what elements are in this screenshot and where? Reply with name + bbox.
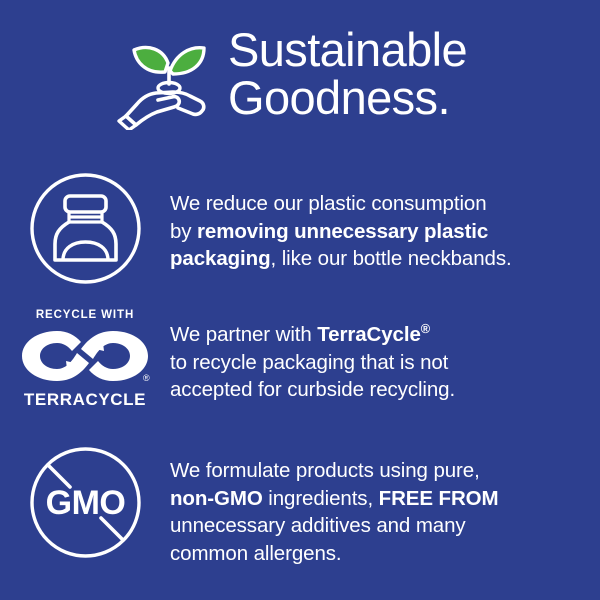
poster-title-line-1: Sustainable bbox=[228, 26, 467, 74]
feature-text-line: accepted for curbside recycling. bbox=[170, 376, 582, 404]
feature-text-line: by removing unnecessary plastic bbox=[170, 218, 582, 246]
feature-text-line: We formulate products using pure, bbox=[170, 457, 582, 485]
feature-text-plastic-reduction: We reduce our plastic consumptionby remo… bbox=[170, 172, 600, 273]
svg-text:®: ® bbox=[143, 373, 150, 383]
feature-text-line: unnecessary additives and many bbox=[170, 512, 582, 540]
feature-row-non-gmo: GMO We formulate products using pure,non… bbox=[0, 446, 600, 567]
feature-text-line: packaging, like our bottle neckbands. bbox=[170, 245, 582, 273]
poster-header: Sustainable Goodness. bbox=[0, 26, 600, 130]
hand-holding-seedling-icon bbox=[116, 30, 220, 130]
feature-text-line: non-GMO ingredients, FREE FROM bbox=[170, 485, 582, 513]
feature-text-line: We reduce our plastic consumption bbox=[170, 190, 582, 218]
feature-text-terracycle: We partner with TerraCycle®to recycle pa… bbox=[170, 308, 600, 404]
feature-text-line: to recycle packaging that is not bbox=[170, 349, 582, 377]
feature-text-line: common allergens. bbox=[170, 540, 582, 568]
feature-row-plastic-reduction: We reduce our plastic consumptionby remo… bbox=[0, 172, 600, 285]
terracycle-wordmark: TERRACYCLE bbox=[24, 390, 146, 410]
svg-text:GMO: GMO bbox=[45, 484, 125, 522]
terracycle-top-text: RECYCLE WITH bbox=[36, 308, 134, 322]
poster-title-line-2: Goodness. bbox=[228, 74, 467, 122]
no-gmo-circle-icon: GMO bbox=[29, 446, 142, 559]
bottle-circle-icon bbox=[29, 172, 142, 285]
feature-icon-cell: GMO bbox=[0, 446, 170, 559]
feature-text-line: We partner with TerraCycle® bbox=[170, 321, 582, 349]
feature-row-terracycle: RECYCLE WITH ® bbox=[0, 308, 600, 410]
terracycle-logo: RECYCLE WITH ® bbox=[17, 308, 153, 410]
infinity-recycle-icon: ® bbox=[19, 325, 151, 387]
feature-text-non-gmo: We formulate products using pure,non-GMO… bbox=[170, 446, 600, 567]
feature-icon-cell: RECYCLE WITH ® bbox=[0, 308, 170, 410]
poster-title: Sustainable Goodness. bbox=[228, 26, 467, 122]
feature-icon-cell bbox=[0, 172, 170, 285]
sustainable-goodness-poster: Sustainable Goodness. W bbox=[0, 0, 600, 600]
